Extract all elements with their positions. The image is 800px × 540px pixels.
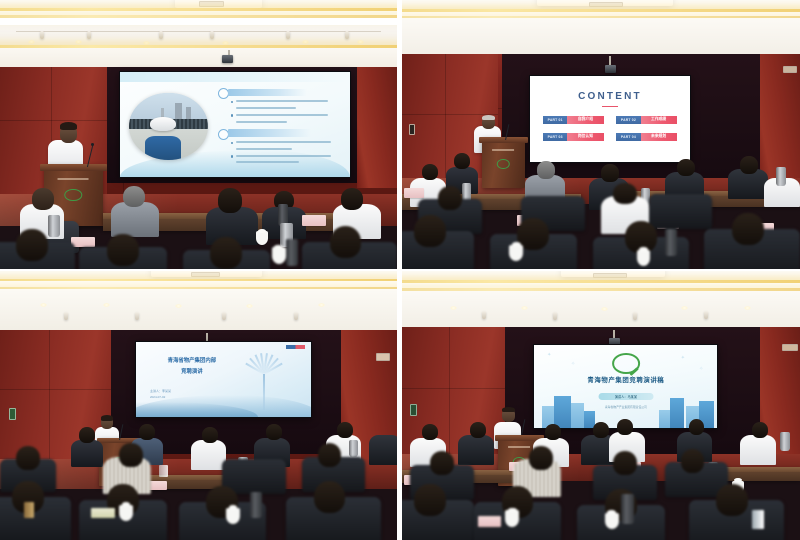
photo-collage: CONTENT PART 01 自我介绍 PART 02 工作成绩 PART 0… xyxy=(0,0,800,540)
attendee-head xyxy=(529,446,553,470)
thermos-flask xyxy=(665,229,677,256)
attendee-head xyxy=(414,484,446,516)
attendee-head xyxy=(16,446,40,470)
attendee-head xyxy=(716,484,748,516)
tea-cup xyxy=(605,513,619,529)
attendee-head xyxy=(613,183,637,205)
tea-cup xyxy=(272,247,286,263)
attendee-head xyxy=(107,234,139,266)
attendee-head xyxy=(414,215,446,247)
attendee-head xyxy=(613,451,637,475)
attendee-head xyxy=(330,226,362,258)
tea-cup xyxy=(226,508,239,524)
scene-bottom-left: 青海省物产集团内部 竞聘演讲 主讲人：李某某 2024-07-02 xyxy=(0,271,397,540)
panel-bottom-left: 青海省物产集团内部 竞聘演讲 主讲人：李某某 2024-07-02 xyxy=(0,270,400,540)
tea-glass xyxy=(24,502,34,518)
tea-cup xyxy=(509,245,523,261)
thermos-flask xyxy=(250,492,262,519)
scene-bottom-right: ✦ ✧ ✦ ✧ 青海物产集团竞聘演讲稿 演讲人：马某某 青海省物产产业集团有限责… xyxy=(402,271,800,540)
attendee-head xyxy=(16,229,48,261)
attendee-head xyxy=(732,213,764,245)
foreground-row xyxy=(0,0,397,269)
scene-top-right: CONTENT PART 01 自我介绍 PART 02 工作成绩 PART 0… xyxy=(402,0,800,269)
thermos-flask xyxy=(621,494,634,524)
tea-cup xyxy=(505,510,519,526)
foreground-row xyxy=(0,271,397,540)
name-card xyxy=(478,516,502,527)
attendee-head xyxy=(681,449,705,473)
attendee-head xyxy=(318,443,342,467)
tea-cup xyxy=(119,505,132,521)
panel-top-right: CONTENT PART 01 自我介绍 PART 02 工作成绩 PART 0… xyxy=(400,0,800,270)
name-card xyxy=(91,508,115,519)
chair xyxy=(649,194,713,229)
thermos-flask xyxy=(286,239,298,266)
foreground-row xyxy=(402,0,800,269)
attendee-head xyxy=(438,186,462,210)
foreground-row xyxy=(402,271,800,540)
attendee-head xyxy=(314,481,346,513)
panel-bottom-right: ✦ ✧ ✦ ✧ 青海物产集团竞聘演讲稿 演讲人：马某某 青海省物产产业集团有限责… xyxy=(400,270,800,540)
scene-top-left xyxy=(0,0,397,269)
attendee-head xyxy=(210,237,242,269)
attendee-head xyxy=(119,443,143,467)
attendee-head xyxy=(430,451,454,475)
water-glass xyxy=(752,510,764,529)
panel-top-left xyxy=(0,0,400,270)
